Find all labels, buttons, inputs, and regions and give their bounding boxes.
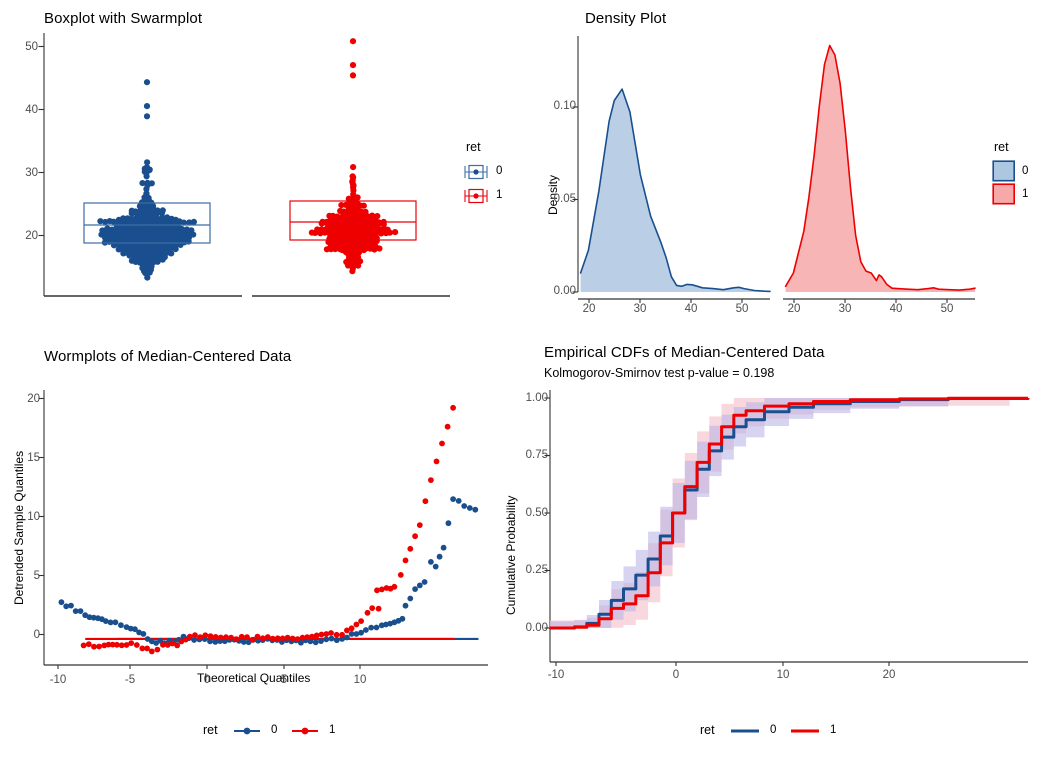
density-ytick-0.10: 0.10 bbox=[538, 100, 576, 112]
ecdf-xtick-20: 20 bbox=[872, 669, 906, 681]
wormplot-xtick-10: 10 bbox=[343, 674, 377, 686]
ecdf-legend-label-0: 0 bbox=[770, 724, 776, 736]
density-legend-key-0[interactable] bbox=[992, 160, 1016, 182]
ecdf-plot-area bbox=[528, 330, 1056, 768]
density-legend-label-1: 1 bbox=[1022, 188, 1028, 200]
density-left-xtick-30: 30 bbox=[625, 303, 655, 315]
figure-panel-grid: Boxplot with Swarmplot 50 40 30 20 bbox=[0, 0, 1056, 768]
boxplot-legend-label-1: 1 bbox=[496, 189, 502, 201]
panel-ecdf: Empirical CDFs of Median-Centered Data K… bbox=[528, 330, 1056, 768]
ecdf-panel-title: Empirical CDFs of Median-Centered Data bbox=[544, 344, 825, 361]
wormplot-ytick-10: 10 bbox=[12, 511, 40, 523]
ecdf-panel-subtitle: Kolmogorov-Smirnov test p-value = 0.198 bbox=[544, 366, 774, 380]
density-legend-key-1[interactable] bbox=[992, 183, 1016, 205]
wormplot-ytick-20: 20 bbox=[12, 393, 40, 405]
wormplot-plot-area bbox=[0, 330, 528, 768]
ecdf-xtick-10: 10 bbox=[766, 669, 800, 681]
boxplot-legend-key-1[interactable] bbox=[463, 186, 489, 206]
wormplot-legend-key-1[interactable] bbox=[290, 722, 320, 740]
boxplot-ytick-30: 30 bbox=[8, 167, 38, 179]
wormplot-xtick-5: 5 bbox=[267, 674, 301, 686]
panel-boxplot-swarmplot: Boxplot with Swarmplot 50 40 30 20 bbox=[0, 0, 528, 330]
wormplot-ytick-15: 15 bbox=[12, 452, 40, 464]
wormplot-legend-title: ret bbox=[203, 723, 218, 737]
boxplot-plot-area bbox=[0, 0, 528, 330]
density-right-xtick-30: 30 bbox=[830, 303, 860, 315]
density-left-xtick-50: 50 bbox=[727, 303, 757, 315]
ecdf-ytick-0.50: 0.50 bbox=[506, 507, 548, 519]
wormplot-ytick-0: 0 bbox=[12, 629, 40, 641]
ecdf-xtick-0: 0 bbox=[659, 669, 693, 681]
wormplot-legend-key-0[interactable] bbox=[232, 722, 262, 740]
ecdf-ytick-0.75: 0.75 bbox=[506, 449, 548, 461]
boxplot-box-1 bbox=[290, 201, 416, 240]
wormplot-legend-label-0: 0 bbox=[271, 724, 277, 736]
ecdf-legend-label-1: 1 bbox=[830, 724, 836, 736]
ecdf-ytick-1.00: 1.00 bbox=[506, 392, 548, 404]
density-right-xtick-20: 20 bbox=[779, 303, 809, 315]
density-right-xtick-40: 40 bbox=[881, 303, 911, 315]
density-ytick-0.05: 0.05 bbox=[538, 193, 576, 205]
density-panel-title: Density Plot bbox=[585, 10, 666, 27]
ecdf-legend-key-1[interactable] bbox=[789, 722, 821, 740]
wormplot-ytick-5: 5 bbox=[12, 570, 40, 582]
density-legend-label-0: 0 bbox=[1022, 165, 1028, 177]
boxplot-legend-label-0: 0 bbox=[496, 165, 502, 177]
boxplot-legend-title: ret bbox=[466, 140, 481, 154]
ecdf-legend-key-0[interactable] bbox=[729, 722, 761, 740]
panel-density: Density Plot Density 0.10 0.05 0.00 20 3… bbox=[528, 0, 1056, 330]
density-ytick-0.00: 0.00 bbox=[538, 285, 576, 297]
boxplot-ytick-50: 50 bbox=[8, 41, 38, 53]
ecdf-xtick--10: -10 bbox=[539, 669, 573, 681]
wormplot-legend-label-1: 1 bbox=[329, 724, 335, 736]
density-right-xtick-50: 50 bbox=[932, 303, 962, 315]
ecdf-ytick-0.00: 0.00 bbox=[506, 622, 548, 634]
density-plot-area bbox=[528, 0, 1056, 330]
density-left-xtick-40: 40 bbox=[676, 303, 706, 315]
density-left-xtick-20: 20 bbox=[574, 303, 604, 315]
wormplot-panel-title: Wormplots of Median-Centered Data bbox=[44, 348, 291, 365]
panel-wormplot: Wormplots of Median-Centered Data Detren… bbox=[0, 330, 528, 768]
density-legend-title: ret bbox=[994, 140, 1009, 154]
ecdf-ytick-0.25: 0.25 bbox=[506, 564, 548, 576]
wormplot-xtick--5: -5 bbox=[113, 674, 147, 686]
boxplot-box-0 bbox=[84, 203, 210, 243]
boxplot-ytick-20: 20 bbox=[8, 230, 38, 242]
boxplot-legend-key-0[interactable] bbox=[463, 162, 489, 182]
ecdf-legend-title: ret bbox=[700, 723, 715, 737]
swarm-group-0 bbox=[97, 79, 197, 281]
boxplot-ytick-40: 40 bbox=[8, 104, 38, 116]
boxplot-panel-title: Boxplot with Swarmplot bbox=[44, 10, 202, 27]
wormplot-xtick-0: 0 bbox=[190, 674, 224, 686]
swarm-group-1 bbox=[309, 38, 398, 274]
wormplot-xtick--10: -10 bbox=[41, 674, 75, 686]
